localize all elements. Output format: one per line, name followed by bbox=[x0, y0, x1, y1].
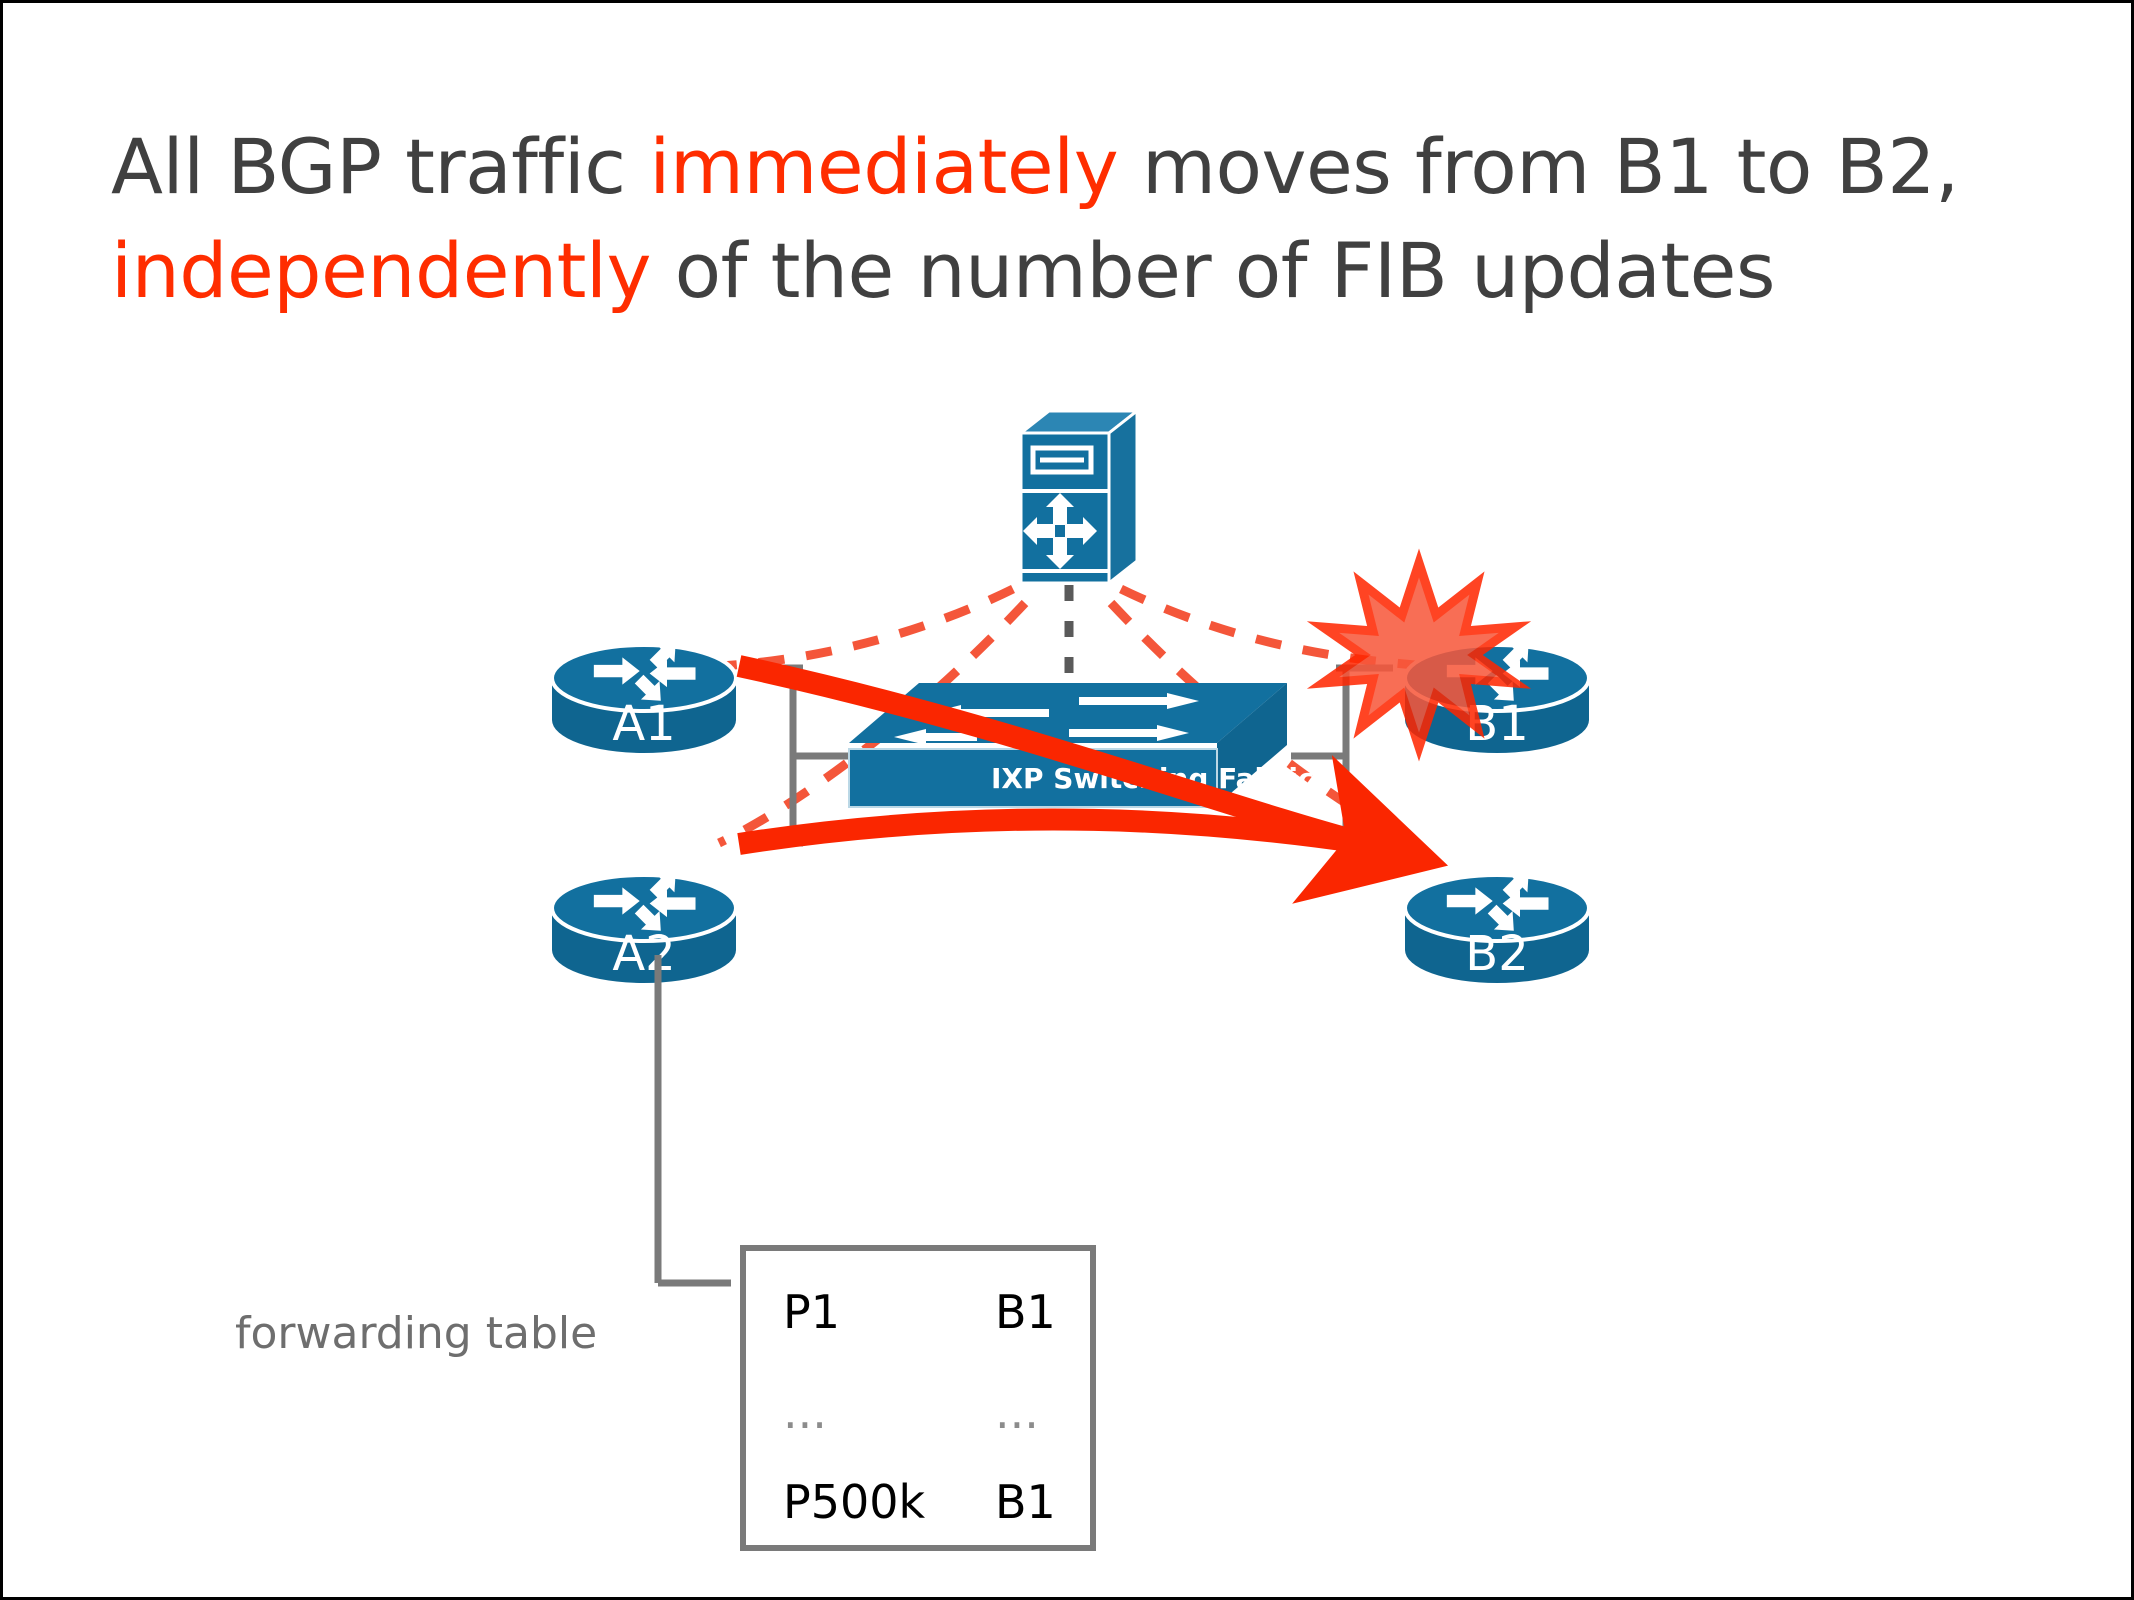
network-diagram: SDX controller bbox=[3, 403, 2134, 1600]
title-line1-part2: moves from B1 to B2, bbox=[1118, 122, 1958, 211]
page-title: All BGP traffic immediately moves from B… bbox=[111, 115, 1961, 323]
control-link-a1 bbox=[721, 589, 1013, 666]
router-label-a2: A2 bbox=[612, 926, 675, 982]
forwarding-table-caption: forwarding table bbox=[235, 1308, 597, 1359]
forwarding-table[interactable]: P1 B1 ... ... P500k B1 bbox=[743, 1248, 1093, 1548]
slide-canvas: All BGP traffic immediately moves from B… bbox=[0, 0, 2134, 1600]
title-line1-part1: All BGP traffic bbox=[111, 122, 649, 211]
title-highlight-immediately: immediately bbox=[649, 122, 1118, 211]
table-cell-nexthop-2: B1 bbox=[995, 1475, 1056, 1529]
table-connector-line bbox=[658, 955, 731, 1283]
router-label-a1: A1 bbox=[612, 696, 675, 752]
title-highlight-independently: independently bbox=[111, 226, 651, 315]
table-cell-prefix-2: P500k bbox=[783, 1475, 926, 1529]
title-line-2: independently of the number of FIB updat… bbox=[111, 219, 1961, 323]
router-node-a2[interactable]: A2 bbox=[552, 873, 736, 983]
router-node-b2[interactable]: B2 bbox=[1405, 873, 1589, 983]
sdx-controller-node[interactable] bbox=[1021, 411, 1137, 583]
traffic-arrow-a2-to-b2 bbox=[739, 819, 1363, 844]
table-cell-prefix-1: ... bbox=[783, 1385, 827, 1439]
table-cell-prefix-0: P1 bbox=[783, 1285, 840, 1339]
router-node-a1[interactable]: A1 bbox=[552, 643, 736, 753]
table-cell-nexthop-0: B1 bbox=[995, 1285, 1056, 1339]
title-line2-part2: of the number of FIB updates bbox=[651, 226, 1775, 315]
table-cell-nexthop-1: ... bbox=[995, 1385, 1039, 1439]
router-label-b2: B2 bbox=[1465, 926, 1528, 982]
title-line-1: All BGP traffic immediately moves from B… bbox=[111, 115, 1961, 219]
